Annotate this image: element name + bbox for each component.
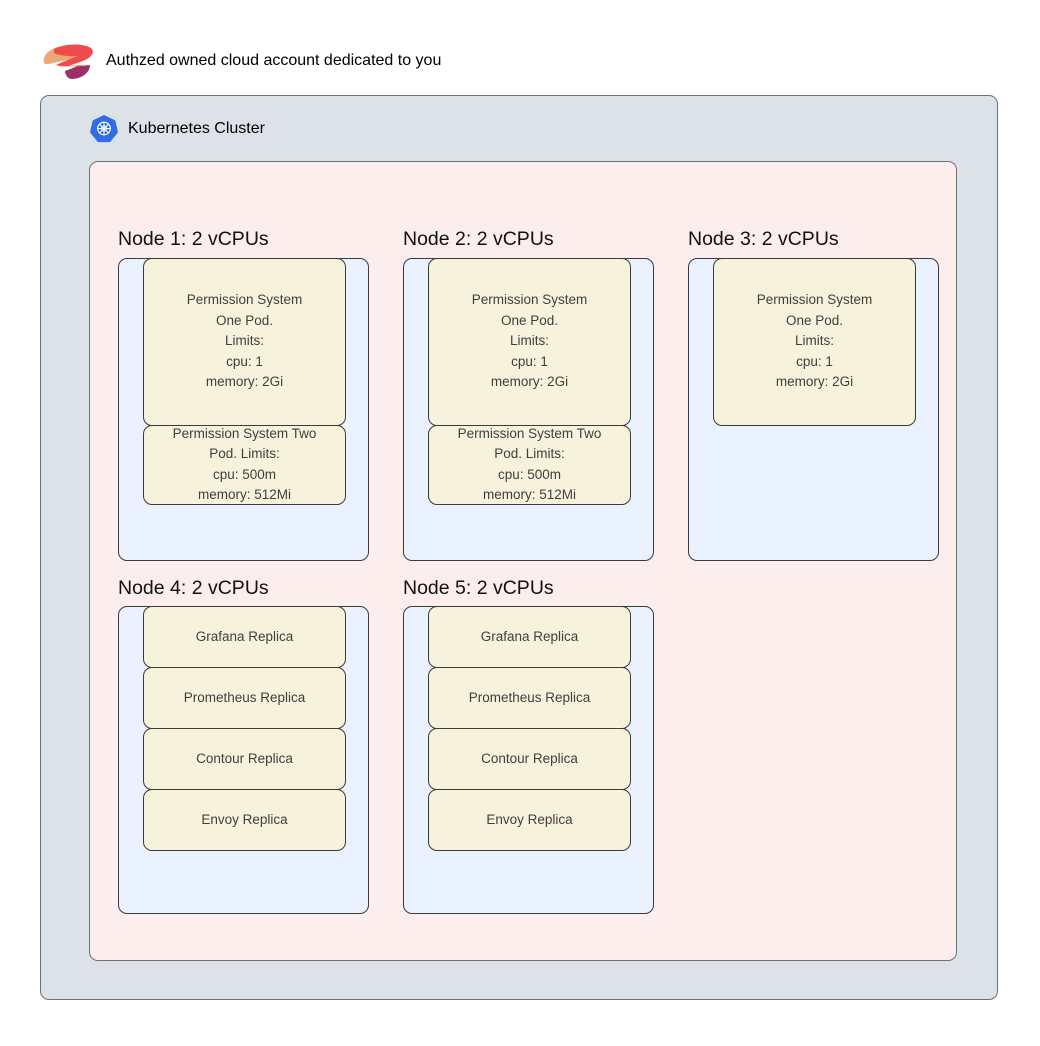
pod-text-line: Contour Replica bbox=[481, 749, 578, 770]
node-label: Node 4: 2 vCPUs bbox=[118, 579, 369, 607]
node-box: Permission SystemOne Pod.Limits:cpu: 1me… bbox=[118, 258, 369, 561]
node-3: Node 3: 2 vCPUsPermission SystemOne Pod.… bbox=[688, 230, 939, 561]
node-label: Node 2: 2 vCPUs bbox=[403, 230, 654, 258]
pod-text-line: memory: 512Mi bbox=[198, 485, 291, 506]
pod-text-line: memory: 512Mi bbox=[483, 485, 576, 506]
node-label: Node 5: 2 vCPUs bbox=[403, 579, 654, 607]
pod-text-line: Limits: bbox=[225, 331, 264, 352]
node-row: Node 4: 2 vCPUsGrafana ReplicaPrometheus… bbox=[118, 579, 938, 915]
permission-system-one-pod[interactable]: Permission SystemOne Pod.Limits:cpu: 1me… bbox=[713, 258, 916, 426]
cluster-nodes-container: Node 1: 2 vCPUsPermission SystemOne Pod.… bbox=[89, 161, 957, 961]
permission-system-one-pod[interactable]: Permission SystemOne Pod.Limits:cpu: 1me… bbox=[143, 258, 346, 426]
pod-text-line: Envoy Replica bbox=[201, 810, 287, 831]
pod-stack: Permission SystemOne Pod.Limits:cpu: 1me… bbox=[119, 258, 368, 505]
permission-system-two-pod[interactable]: Permission System TwoPod. Limits:cpu: 50… bbox=[428, 425, 631, 505]
pod-text-line: One Pod. bbox=[501, 311, 558, 332]
pod-text-line: cpu: 500m bbox=[213, 465, 276, 486]
node-box: Permission SystemOne Pod.Limits:cpu: 1me… bbox=[688, 258, 939, 561]
node-box: Permission SystemOne Pod.Limits:cpu: 1me… bbox=[403, 258, 654, 561]
pod-stack: Permission SystemOne Pod.Limits:cpu: 1me… bbox=[689, 258, 938, 426]
pod-text-line: Limits: bbox=[510, 331, 549, 352]
envoy-replica-pod[interactable]: Envoy Replica bbox=[143, 789, 346, 851]
pod-text-line: cpu: 1 bbox=[796, 352, 833, 373]
pod-text-line: One Pod. bbox=[216, 311, 273, 332]
pod-text-line: Grafana Replica bbox=[196, 627, 294, 648]
pod-stack: Grafana ReplicaPrometheus ReplicaContour… bbox=[119, 606, 368, 851]
node-label: Node 1: 2 vCPUs bbox=[118, 230, 369, 258]
node-1: Node 1: 2 vCPUsPermission SystemOne Pod.… bbox=[118, 230, 369, 561]
pod-text-line: memory: 2Gi bbox=[776, 372, 853, 393]
node-grid: Node 1: 2 vCPUsPermission SystemOne Pod.… bbox=[118, 230, 938, 914]
pod-text-line: Prometheus Replica bbox=[184, 688, 306, 709]
pod-text-line: Permission System Two bbox=[458, 424, 602, 445]
node-row: Node 1: 2 vCPUsPermission SystemOne Pod.… bbox=[118, 230, 938, 561]
node-2: Node 2: 2 vCPUsPermission SystemOne Pod.… bbox=[403, 230, 654, 561]
envoy-replica-pod[interactable]: Envoy Replica bbox=[428, 789, 631, 851]
pod-text-line: Prometheus Replica bbox=[469, 688, 591, 709]
account-title: Authzed owned cloud account dedicated to… bbox=[106, 52, 441, 70]
cluster-header: Kubernetes Cluster bbox=[89, 114, 265, 144]
kubernetes-icon bbox=[89, 114, 119, 144]
permission-system-two-pod[interactable]: Permission System TwoPod. Limits:cpu: 50… bbox=[143, 425, 346, 505]
grafana-replica-pod[interactable]: Grafana Replica bbox=[428, 606, 631, 668]
prometheus-replica-pod[interactable]: Prometheus Replica bbox=[428, 667, 631, 729]
pod-text-line: Permission System bbox=[187, 290, 303, 311]
pod-text-line: cpu: 500m bbox=[498, 465, 561, 486]
node-box: Grafana ReplicaPrometheus ReplicaContour… bbox=[118, 606, 369, 914]
cloud-account-container: Kubernetes Cluster Node 1: 2 vCPUsPermis… bbox=[40, 95, 998, 1000]
pod-text-line: Pod. Limits: bbox=[209, 444, 280, 465]
pod-text-line: Permission System Two bbox=[173, 424, 317, 445]
contour-replica-pod[interactable]: Contour Replica bbox=[143, 728, 346, 790]
pod-stack: Grafana ReplicaPrometheus ReplicaContour… bbox=[404, 606, 653, 851]
pod-text-line: One Pod. bbox=[786, 311, 843, 332]
pod-text-line: Envoy Replica bbox=[486, 810, 572, 831]
permission-system-one-pod[interactable]: Permission SystemOne Pod.Limits:cpu: 1me… bbox=[428, 258, 631, 426]
pod-text-line: cpu: 1 bbox=[226, 352, 263, 373]
pod-text-line: cpu: 1 bbox=[511, 352, 548, 373]
node-4: Node 4: 2 vCPUsGrafana ReplicaPrometheus… bbox=[118, 579, 369, 915]
pod-text-line: Pod. Limits: bbox=[494, 444, 565, 465]
pod-stack: Permission SystemOne Pod.Limits:cpu: 1me… bbox=[404, 258, 653, 505]
pod-text-line: Contour Replica bbox=[196, 749, 293, 770]
account-header: Authzed owned cloud account dedicated to… bbox=[40, 40, 441, 82]
pod-text-line: memory: 2Gi bbox=[206, 372, 283, 393]
prometheus-replica-pod[interactable]: Prometheus Replica bbox=[143, 667, 346, 729]
authzed-logo-icon bbox=[40, 41, 96, 81]
pod-text-line: memory: 2Gi bbox=[491, 372, 568, 393]
grafana-replica-pod[interactable]: Grafana Replica bbox=[143, 606, 346, 668]
pod-text-line: Limits: bbox=[795, 331, 834, 352]
contour-replica-pod[interactable]: Contour Replica bbox=[428, 728, 631, 790]
node-box: Grafana ReplicaPrometheus ReplicaContour… bbox=[403, 606, 654, 914]
cluster-title: Kubernetes Cluster bbox=[128, 120, 265, 138]
pod-text-line: Permission System bbox=[472, 290, 588, 311]
node-label: Node 3: 2 vCPUs bbox=[688, 230, 939, 258]
node-5: Node 5: 2 vCPUsGrafana ReplicaPrometheus… bbox=[403, 579, 654, 915]
pod-text-line: Permission System bbox=[757, 290, 873, 311]
pod-text-line: Grafana Replica bbox=[481, 627, 579, 648]
